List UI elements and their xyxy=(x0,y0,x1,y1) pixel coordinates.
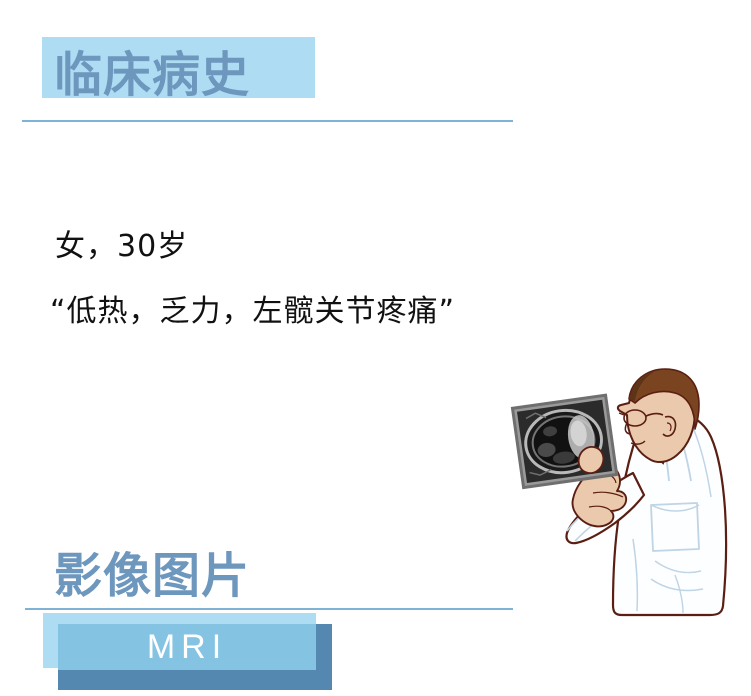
mri-banner-light-layer xyxy=(43,613,316,668)
mri-banner-front-layer xyxy=(58,624,316,670)
clinical-history-heading: 临床病史 xyxy=(54,52,250,100)
history-line-symptoms: “低热，乏力，左髋关节疼痛” xyxy=(50,297,455,327)
doctor-thumb-icon xyxy=(579,447,604,473)
divider-top xyxy=(22,120,513,122)
slide-canvas: 临床病史 女，30岁 “低热，乏力，左髋关节疼痛” xyxy=(0,0,751,696)
history-line-patient-demographics: 女，30岁 xyxy=(55,232,188,262)
mri-banner-dark-layer xyxy=(58,624,332,690)
divider-bottom xyxy=(25,608,513,610)
mri-modality-label: MRI xyxy=(58,624,316,670)
imaging-heading: 影像图片 xyxy=(54,553,250,601)
doctor-illustration xyxy=(505,363,751,625)
mri-film-icon xyxy=(512,395,616,487)
